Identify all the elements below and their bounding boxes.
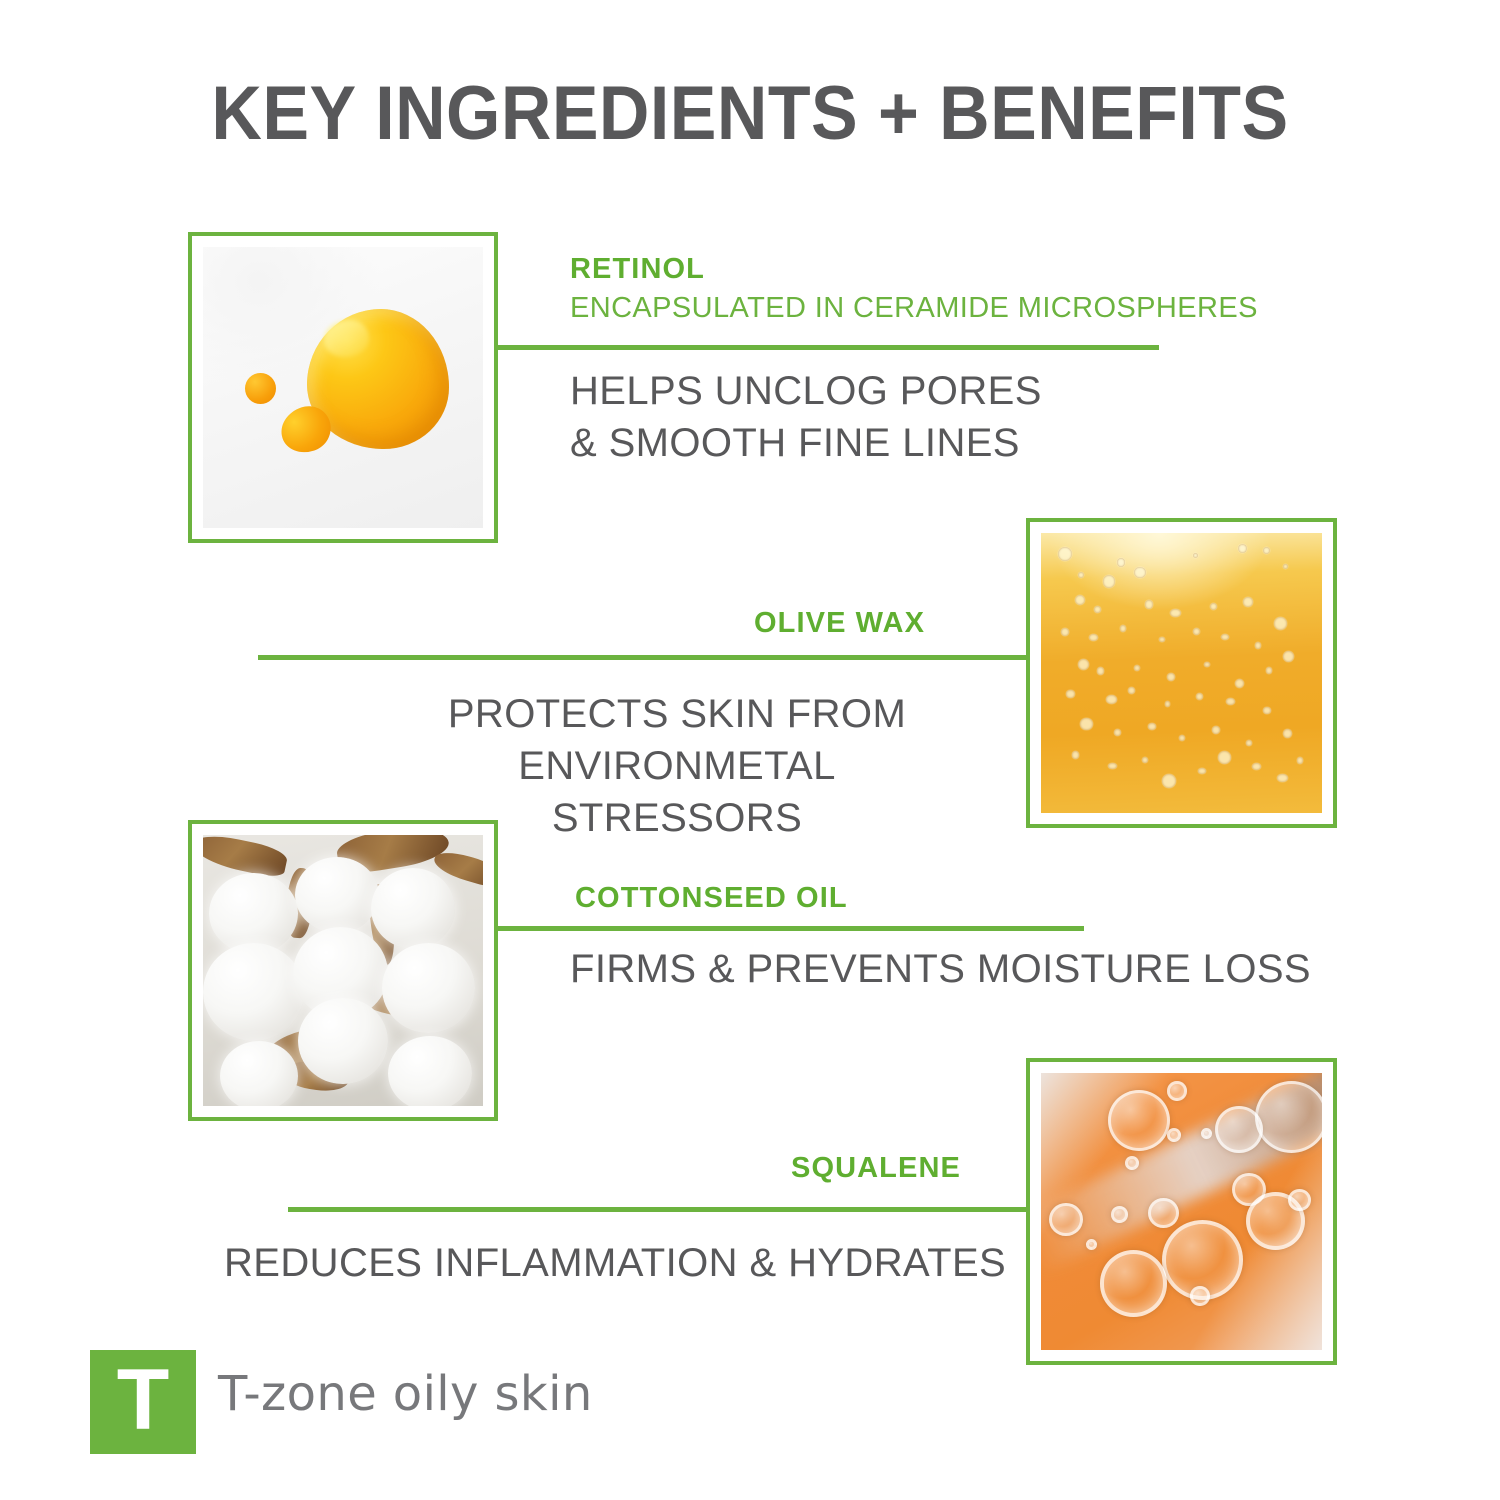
ingredient-image-olive-wax <box>1026 518 1337 828</box>
ingredient-benefit-retinol: HELPS UNCLOG PORES & SMOOTH FINE LINES <box>570 365 1042 469</box>
ingredient-subtitle-retinol: ENCAPSULATED IN CERAMIDE MICROSPHERES <box>570 292 1258 325</box>
olive-wax-photo <box>1041 533 1322 813</box>
connector-rule-olive-wax <box>258 655 1028 660</box>
ingredient-benefit-squalene: REDUCES INFLAMMATION & HYDRATES <box>224 1237 1006 1289</box>
ingredient-name-cottonseed-oil: COTTONSEED OIL <box>575 882 848 915</box>
page-title: KEY INGREDIENTS + BENEFITS <box>60 70 1440 157</box>
connector-rule-cottonseed-oil <box>497 926 1084 931</box>
oil-droplet-small-shape <box>245 373 276 404</box>
tzone-label: T-zone oily skin <box>218 1366 593 1422</box>
ingredient-benefit-cottonseed-oil: FIRMS & PREVENTS MOISTURE LOSS <box>570 943 1311 995</box>
ingredient-image-retinol <box>188 232 498 543</box>
ingredient-image-cottonseed-oil <box>188 820 498 1121</box>
retinol-photo <box>203 247 483 528</box>
ingredient-name-squalene: SQUALENE <box>791 1152 961 1185</box>
squalene-photo <box>1041 1073 1322 1350</box>
cottonseed-photo <box>203 835 483 1106</box>
ingredient-name-olive-wax: OLIVE WAX <box>754 607 925 640</box>
ingredient-image-squalene <box>1026 1058 1337 1365</box>
tzone-badge: T <box>90 1350 196 1454</box>
ingredient-name-retinol: RETINOL <box>570 253 705 286</box>
infographic-page: KEY INGREDIENTS + BENEFITS RETINOL ENCAP… <box>0 0 1500 1500</box>
connector-rule-squalene <box>288 1207 1028 1212</box>
tzone-badge-letter: T <box>90 1350 196 1454</box>
connector-rule-retinol <box>497 345 1159 350</box>
